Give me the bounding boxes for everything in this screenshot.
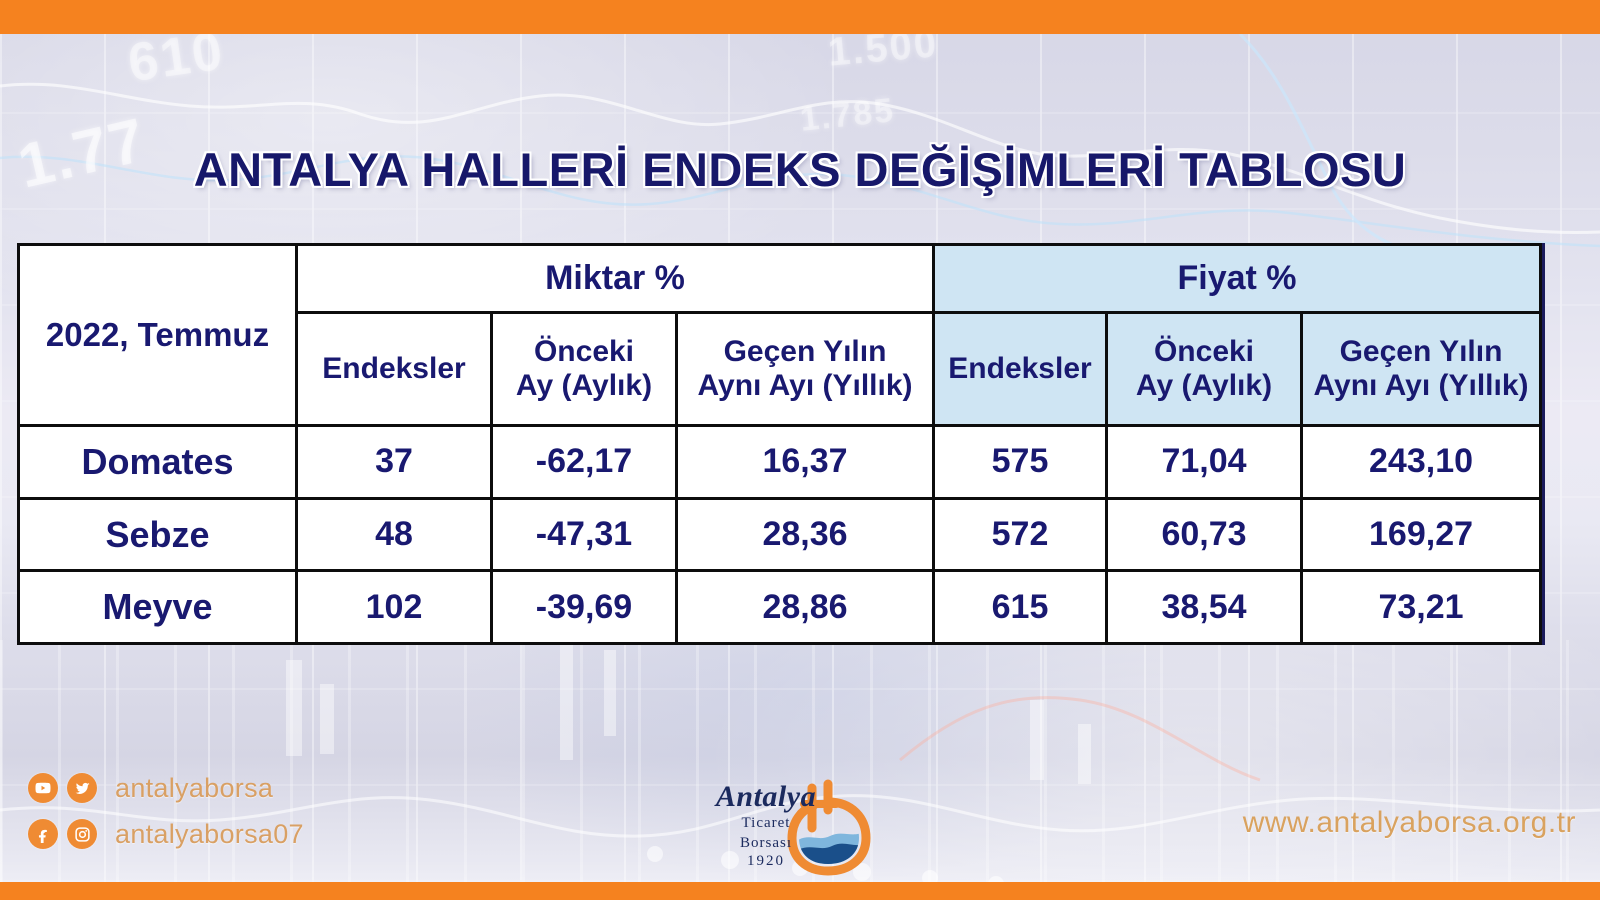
subheader-miktar-gecen-yil: Geçen Yılın Aynı Ayı (Yıllık)	[677, 312, 934, 425]
logo-wordmark: Antalya Ticaret Borsası 1920	[700, 782, 832, 870]
subheader-line1: Önceki	[534, 335, 634, 368]
subheader-line2: Ay (Aylık)	[493, 369, 675, 403]
cell-meyve-fiyat-yillik: 73,21	[1302, 571, 1541, 644]
index-table: 2022, Temmuz Miktar % Fiyat % Endeksler …	[17, 243, 1542, 645]
subheader-fiyat-endeksler: Endeksler	[934, 312, 1107, 425]
subheader-fiyat-onceki-ay: Önceki Ay (Aylık)	[1107, 312, 1302, 425]
column-group-miktar: Miktar %	[297, 245, 934, 313]
subheader-line2: Aynı Ayı (Yıllık)	[678, 369, 932, 403]
subheader-line1: Geçen Yılın	[1340, 335, 1503, 368]
cell-domates-miktar-aylik: -62,17	[492, 426, 677, 499]
subheader-fiyat-gecen-yil: Geçen Yılın Aynı Ayı (Yıllık)	[1302, 312, 1541, 425]
subheader-line2: Endeksler	[935, 352, 1105, 386]
cell-sebze-miktar-endeks: 48	[297, 498, 492, 571]
cell-meyve-fiyat-aylik: 38,54	[1107, 571, 1302, 644]
logo-name: Antalya	[700, 782, 832, 812]
social-handle-bottom[interactable]: antalyaborsa07	[115, 819, 304, 850]
cell-sebze-fiyat-endeks: 572	[934, 498, 1107, 571]
subheader-line2: Endeksler	[298, 352, 490, 386]
table-row: Meyve 102 -39,69 28,86 615 38,54 73,21	[19, 571, 1541, 644]
social-links: antalyaborsa antalyaborsa07	[28, 768, 448, 860]
cell-domates-fiyat-aylik: 71,04	[1107, 426, 1302, 499]
cell-sebze-fiyat-yillik: 169,27	[1302, 498, 1541, 571]
table-row: Domates 37 -62,17 16,37 575 71,04 243,10	[19, 426, 1541, 499]
cell-sebze-miktar-aylik: -47,31	[492, 498, 677, 571]
page-title: ANTALYA HALLERİ ENDEKS DEĞİŞİMLERİ TABLO…	[0, 142, 1600, 197]
subheader-line1: Önceki	[1154, 335, 1254, 368]
row-label-meyve: Meyve	[19, 571, 297, 644]
poster-canvas: 1.77 610 1.500 1.785 ANTALYA HALLERİ END…	[0, 0, 1600, 900]
antalya-ticaret-borsasi-logo: Antalya Ticaret Borsası 1920	[700, 770, 890, 880]
logo-sub1: Ticaret	[700, 815, 832, 832]
logo-year: 1920	[700, 853, 832, 870]
row-label-sebze: Sebze	[19, 498, 297, 571]
social-handle-top[interactable]: antalyaborsa	[115, 773, 273, 804]
row-label-domates: Domates	[19, 426, 297, 499]
cell-domates-fiyat-yillik: 243,10	[1302, 426, 1541, 499]
twitter-icon[interactable]	[67, 773, 97, 803]
column-group-fiyat: Fiyat %	[934, 245, 1541, 313]
table-corner-period-label: 2022, Temmuz	[19, 245, 297, 426]
website-url[interactable]: www.antalyaborsa.org.tr	[1243, 806, 1576, 840]
cell-meyve-fiyat-endeks: 615	[934, 571, 1107, 644]
cell-domates-miktar-endeks: 37	[297, 426, 492, 499]
cell-meyve-miktar-endeks: 102	[297, 571, 492, 644]
subheader-line2: Aynı Ayı (Yıllık)	[1303, 369, 1539, 403]
top-orange-bar	[0, 0, 1600, 34]
table-group-header-row: 2022, Temmuz Miktar % Fiyat %	[19, 245, 1541, 313]
social-row-top: antalyaborsa	[28, 768, 448, 808]
facebook-icon[interactable]	[28, 819, 58, 849]
subheader-miktar-endeksler: Endeksler	[297, 312, 492, 425]
cell-domates-miktar-yillik: 16,37	[677, 426, 934, 499]
bottom-orange-bar	[0, 882, 1600, 900]
subheader-miktar-onceki-ay: Önceki Ay (Aylık)	[492, 312, 677, 425]
subheader-line1: Geçen Yılın	[724, 335, 887, 368]
logo-sub2: Borsası	[700, 835, 832, 852]
youtube-icon[interactable]	[28, 773, 58, 803]
index-table-frame: 2022, Temmuz Miktar % Fiyat % Endeksler …	[17, 243, 1545, 645]
subheader-line2: Ay (Aylık)	[1108, 369, 1300, 403]
cell-sebze-fiyat-aylik: 60,73	[1107, 498, 1302, 571]
social-row-bottom: antalyaborsa07	[28, 814, 448, 854]
cell-meyve-miktar-aylik: -39,69	[492, 571, 677, 644]
table-row: Sebze 48 -47,31 28,36 572 60,73 169,27	[19, 498, 1541, 571]
cell-meyve-miktar-yillik: 28,86	[677, 571, 934, 644]
cell-domates-fiyat-endeks: 575	[934, 426, 1107, 499]
cell-sebze-miktar-yillik: 28,36	[677, 498, 934, 571]
instagram-icon[interactable]	[67, 819, 97, 849]
